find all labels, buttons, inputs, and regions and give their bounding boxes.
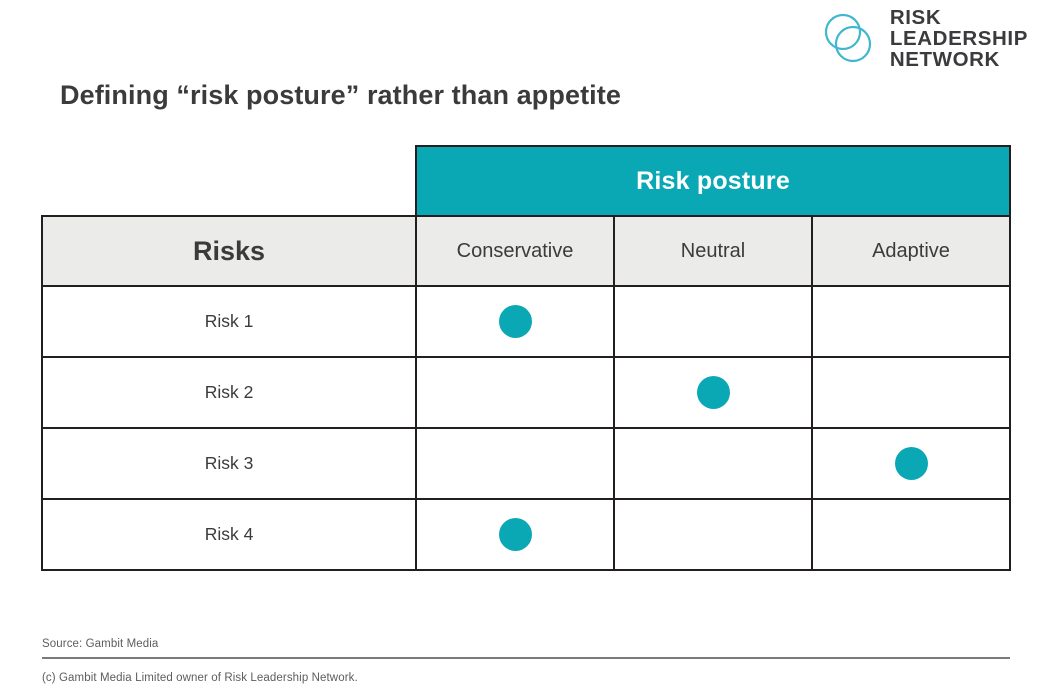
column-header-conservative: Conservative <box>416 216 614 286</box>
column-header-neutral: Neutral <box>614 216 812 286</box>
row-label-risk-3: Risk 3 <box>42 428 416 499</box>
brand-wordmark: RISK LEADERSHIP NETWORK <box>890 8 1028 71</box>
row-label-risk-1: Risk 1 <box>42 286 416 357</box>
table-row: Risk 2 <box>42 357 1010 428</box>
column-header-risks: Risks <box>42 216 416 286</box>
row-label-risk-4: Risk 4 <box>42 499 416 570</box>
page-title: Defining “risk posture” rather than appe… <box>60 80 621 111</box>
table-column-header-row: Risks Conservative Neutral Adaptive <box>42 216 1010 286</box>
table-group-header-row: Risk posture <box>42 146 1010 216</box>
posture-marker-dot <box>697 376 730 409</box>
cell-risk-4-conservative[interactable] <box>416 499 614 570</box>
cell-risk-3-neutral[interactable] <box>614 428 812 499</box>
footer-source-text: Source: Gambit Media <box>42 638 1010 657</box>
row-label-risk-2: Risk 2 <box>42 357 416 428</box>
cell-risk-2-conservative[interactable] <box>416 357 614 428</box>
cell-risk-1-neutral[interactable] <box>614 286 812 357</box>
brand-name-line-1: RISK <box>890 8 1028 29</box>
table-row: Risk 1 <box>42 286 1010 357</box>
table-row: Risk 3 <box>42 428 1010 499</box>
posture-marker-dot <box>499 518 532 551</box>
corner-cell-empty <box>42 146 416 216</box>
cell-risk-1-adaptive[interactable] <box>812 286 1010 357</box>
posture-marker-dot <box>895 447 928 480</box>
cell-risk-4-adaptive[interactable] <box>812 499 1010 570</box>
column-header-adaptive: Adaptive <box>812 216 1010 286</box>
posture-marker-dot <box>499 305 532 338</box>
cell-risk-4-neutral[interactable] <box>614 499 812 570</box>
cell-risk-2-adaptive[interactable] <box>812 357 1010 428</box>
two-overlapping-circles-icon <box>820 10 878 68</box>
brand-logo: RISK LEADERSHIP NETWORK <box>820 8 1028 71</box>
group-header-risk-posture: Risk posture <box>416 146 1010 216</box>
footer-copyright-text: (c) Gambit Media Limited owner of Risk L… <box>42 659 1010 684</box>
cell-risk-2-neutral[interactable] <box>614 357 812 428</box>
cell-risk-1-conservative[interactable] <box>416 286 614 357</box>
brand-name-line-3: NETWORK <box>890 50 1028 71</box>
cell-risk-3-adaptive[interactable] <box>812 428 1010 499</box>
cell-risk-3-conservative[interactable] <box>416 428 614 499</box>
slide-footer: Source: Gambit Media (c) Gambit Media Li… <box>42 638 1010 684</box>
brand-name-line-2: LEADERSHIP <box>890 29 1028 50</box>
table-row: Risk 4 <box>42 499 1010 570</box>
risk-posture-matrix: Risk posture Risks Conservative Neutral … <box>41 145 1011 571</box>
